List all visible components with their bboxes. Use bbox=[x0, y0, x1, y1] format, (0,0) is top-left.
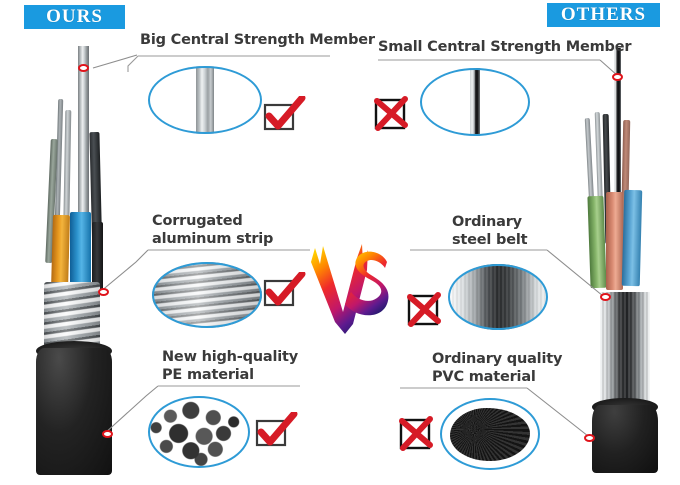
label-ordinary-quality-pvc-material: Ordinary quality PVC material bbox=[432, 350, 562, 386]
others-loose-tube-blue bbox=[622, 190, 643, 286]
versus-burst-icon bbox=[305, 240, 391, 336]
others-pvc-jacket bbox=[592, 405, 658, 473]
cross-mark-box-icon-row3 bbox=[397, 412, 437, 454]
zoom-ellipse-others-csm bbox=[420, 68, 530, 136]
hotspot-ours-jacket bbox=[102, 430, 113, 438]
zoom-ellipse-others-material bbox=[440, 398, 540, 470]
hotspot-others-jacket bbox=[584, 434, 595, 442]
header-badge-ours: OURS bbox=[24, 5, 125, 29]
cross-mark-box-icon-row2 bbox=[405, 288, 445, 330]
label-small-central-strength-member: Small Central Strength Member bbox=[378, 38, 631, 56]
check-mark-box-icon-row3 bbox=[254, 412, 298, 450]
cross-mark-box-icon-row1 bbox=[372, 92, 412, 134]
check-mark-box-icon-row2 bbox=[262, 272, 306, 310]
zoom-ellipse-ours-material bbox=[148, 396, 250, 468]
label-new-high-quality-pe-material: New high-quality PE material bbox=[162, 348, 298, 384]
zoom-ellipse-ours-armour bbox=[152, 262, 262, 328]
check-mark-box-icon-row1 bbox=[262, 96, 306, 134]
label-ordinary-steel-belt: Ordinary steel belt bbox=[452, 213, 527, 249]
hotspot-ours-armour bbox=[98, 288, 109, 296]
others-steel-belt-armour bbox=[600, 292, 650, 410]
hotspot-others-csm bbox=[612, 73, 623, 81]
header-badge-others: OTHERS bbox=[547, 3, 660, 27]
others-loose-tube-salmon bbox=[606, 192, 623, 290]
hotspot-others-armour bbox=[600, 293, 611, 301]
label-corrugated-aluminum-strip: Corrugated aluminum strip bbox=[152, 212, 273, 248]
ours-loose-tube-orange bbox=[51, 215, 70, 290]
comparison-graphic: OURS OTHERS Big Central Strength Member … bbox=[0, 0, 680, 485]
ours-pe-jacket bbox=[36, 348, 112, 475]
others-loose-tube-green bbox=[587, 196, 606, 289]
ours-loose-tube-blue bbox=[70, 212, 91, 292]
zoom-ellipse-others-armour bbox=[448, 264, 548, 330]
label-big-central-strength-member: Big Central Strength Member bbox=[140, 31, 375, 49]
zoom-ellipse-ours-csm bbox=[148, 66, 262, 134]
hotspot-ours-csm bbox=[78, 64, 89, 72]
